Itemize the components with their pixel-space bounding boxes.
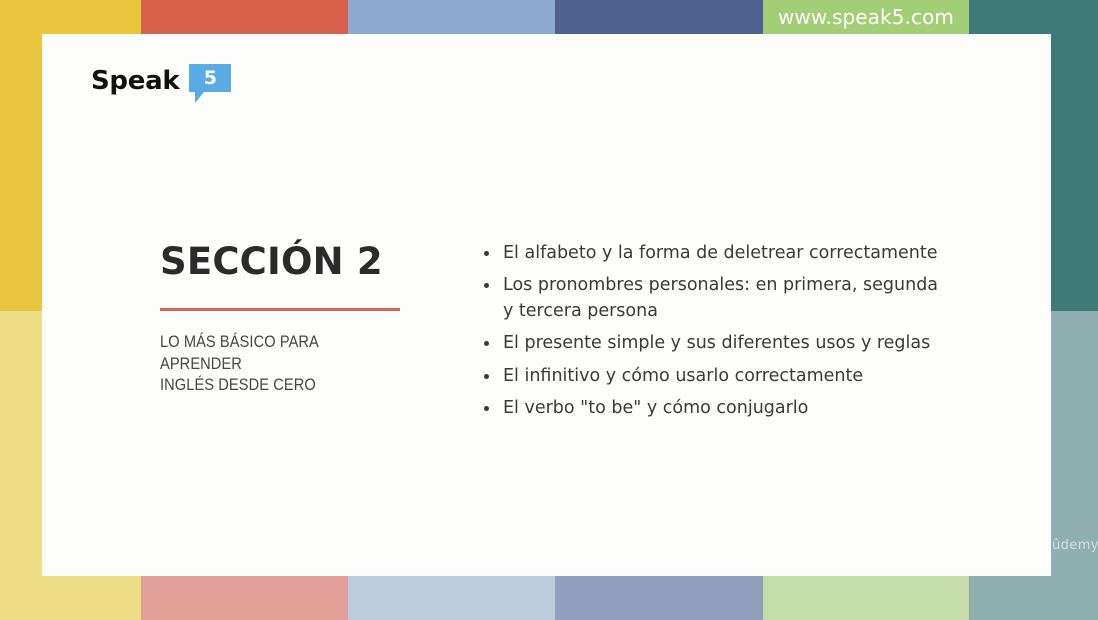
speech-bubble-icon: 5: [189, 64, 231, 92]
slide-canvas: www.speak5.com ûdemy Speak 5 SECCIÓN 2 L…: [0, 0, 1098, 620]
brand-logo-badge: 5: [189, 64, 231, 92]
section-subtitle: LO MÁS BÁSICO PARA APRENDER INGLÉS DESDE…: [160, 331, 384, 396]
udemy-watermark: ûdemy: [1052, 538, 1098, 553]
topic-list-item: El infinitivo y cómo usarlo correctament…: [481, 364, 951, 389]
speech-bubble-tail-icon: [195, 92, 204, 103]
brand-logo-word: Speak: [91, 64, 179, 94]
section-heading-block: SECCIÓN 2 LO MÁS BÁSICO PARA APRENDER IN…: [160, 243, 420, 396]
brand-logo: Speak 5: [91, 64, 231, 94]
topic-list-item: El verbo "to be" y cómo conjugarlo: [481, 396, 951, 421]
topic-list-item: El alfabeto y la forma de deletrear corr…: [481, 241, 951, 266]
section-divider: [160, 308, 400, 311]
topic-list-item: El presente simple y sus diferentes usos…: [481, 331, 951, 356]
topic-list: El alfabeto y la forma de deletrear corr…: [481, 241, 951, 428]
topic-list-item: Los pronombres personales: en primera, s…: [481, 273, 951, 324]
site-url-label: www.speak5.com: [763, 0, 969, 34]
section-title: SECCIÓN 2: [160, 243, 420, 282]
